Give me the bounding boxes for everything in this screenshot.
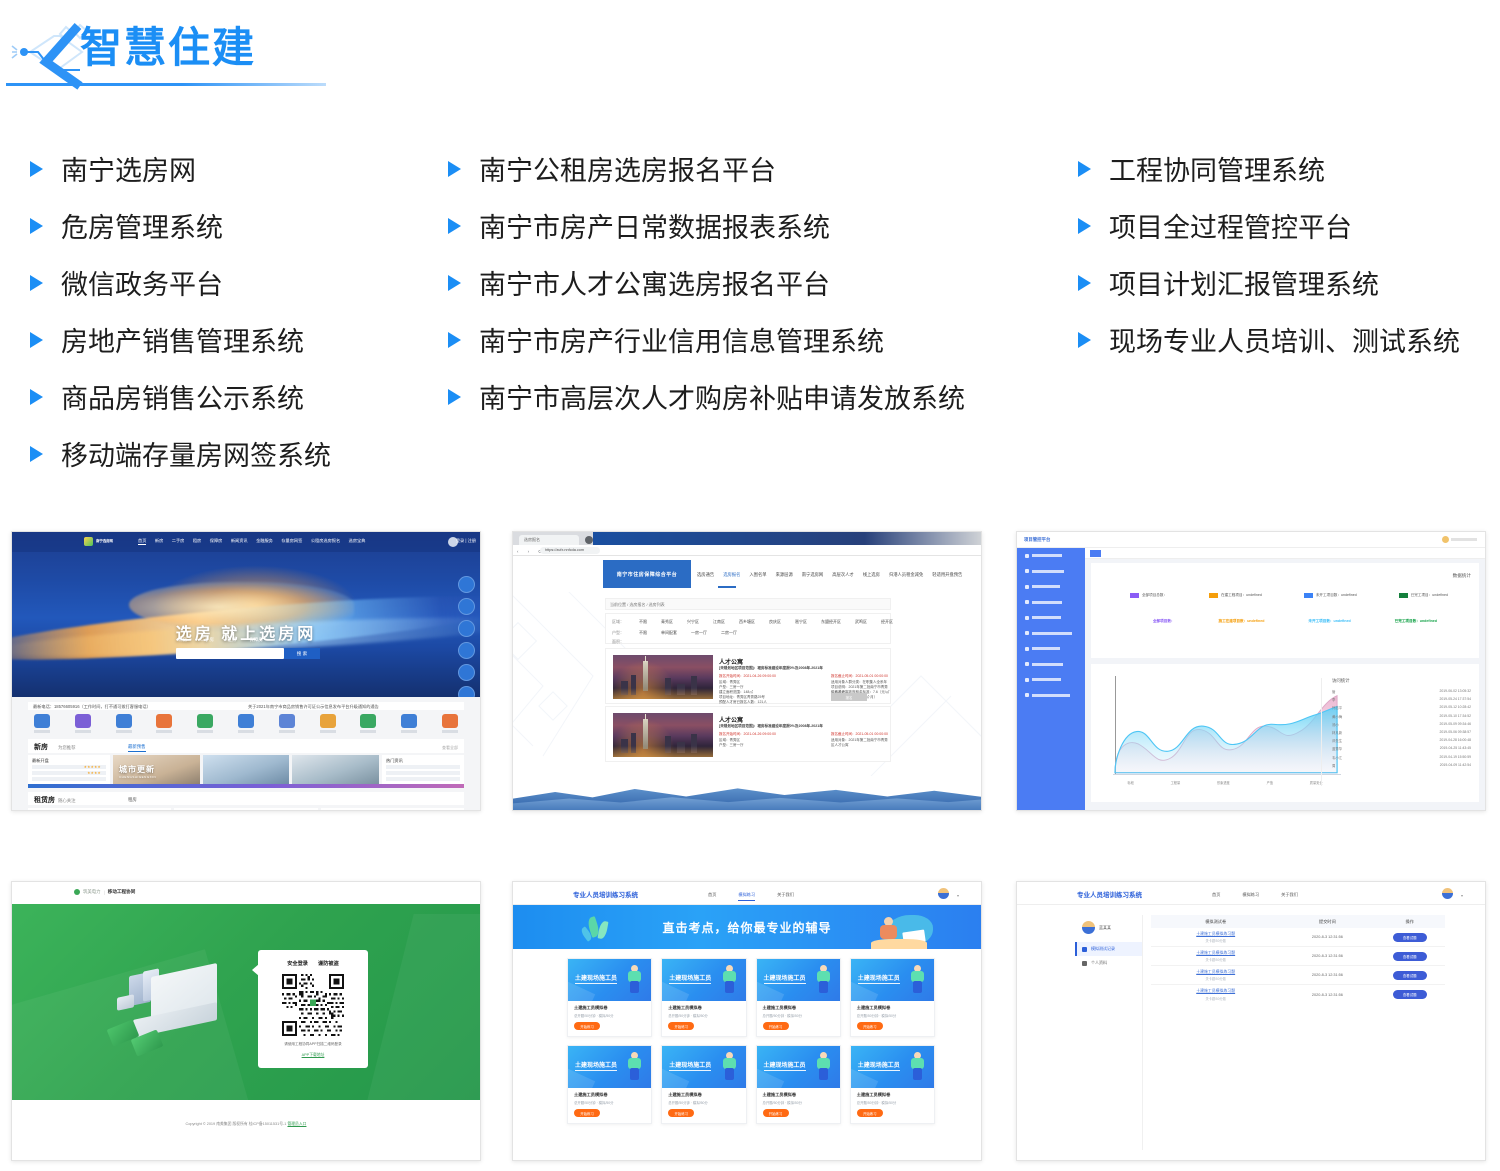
nav-item[interactable]: 首页 bbox=[1212, 892, 1220, 898]
cell-paper[interactable]: 土建施工员模拟练习题 关卡题/50分题 bbox=[1151, 969, 1280, 982]
system-label: 南宁市高层次人才购房补贴申请发放系统 bbox=[479, 377, 965, 416]
practice-card[interactable]: 土建现场施工员 土建施工员模拟卷 总开题/50分钟 · 模拟/50分 开始练习 bbox=[756, 958, 841, 1037]
log-time: 2019-04-19 15:50:59 bbox=[1440, 755, 1471, 760]
log-time: 2019-04-28 16:00:48 bbox=[1440, 738, 1471, 743]
side-tool-icon[interactable] bbox=[458, 642, 475, 659]
x-tick-label: 产值 bbox=[1267, 780, 1273, 785]
quick-entry-icon bbox=[197, 714, 213, 728]
log-row: 林凡新2019-05-06 09:38:57 bbox=[1332, 730, 1471, 735]
shape-decor-icon bbox=[757, 1069, 784, 1088]
system-label: 南宁市人才公寓选房报名平台 bbox=[479, 263, 830, 302]
system-link[interactable]: 南宁选房网 bbox=[30, 140, 331, 197]
cell-time: 2020-8-3 12:31:56 bbox=[1280, 954, 1374, 958]
menu-icon bbox=[1025, 569, 1029, 573]
paper-sub: 关卡题/50分题 bbox=[1151, 996, 1280, 1001]
user-sidebar: 蓝某某 模拟测试记录 个人资料 bbox=[1075, 915, 1143, 1150]
screenshot-project-dashboard[interactable]: 项目管控平台 数据统计 全部项目总数： 在建工程项目：undefined bbox=[1016, 531, 1486, 811]
quick-entry-icon bbox=[360, 714, 376, 728]
system-link[interactable]: 房地产销售管理系统 bbox=[30, 311, 331, 368]
menu-icon bbox=[1025, 585, 1029, 589]
admin-entry-link[interactable]: 管理员入口 bbox=[287, 1122, 306, 1126]
hot-news-list: 热门资讯 bbox=[382, 755, 464, 785]
nav-item[interactable]: 存量房网签 bbox=[281, 538, 302, 545]
user-name: 蓝某某 bbox=[1099, 925, 1111, 931]
search-tab[interactable]: 租房 bbox=[227, 637, 236, 643]
quick-entry[interactable] bbox=[360, 714, 376, 733]
log-time: 2019-05-06 09:38:57 bbox=[1440, 730, 1471, 735]
nav-item[interactable]: 新房 bbox=[155, 538, 163, 545]
sand-decor-icon bbox=[871, 939, 927, 949]
panel-title: 数据统计 bbox=[1453, 573, 1471, 579]
dashboard-sidebar[interactable] bbox=[1017, 548, 1085, 810]
site-nav[interactable]: 首页 模拟练习 关于我们 bbox=[1212, 892, 1298, 898]
section-more-link[interactable]: 查看全部 bbox=[442, 745, 458, 751]
promo-image-buildings[interactable] bbox=[203, 755, 290, 785]
paper-link[interactable]: 土建施工员模拟练习题 bbox=[1151, 969, 1280, 975]
avatar[interactable] bbox=[938, 888, 949, 899]
cell-paper[interactable]: 土建施工员模拟练习题 关卡题/50分题 bbox=[1151, 931, 1280, 944]
card-body: 土建施工员模拟卷 总开题/50分钟 · 模拟/50分 开始练习 bbox=[662, 1001, 745, 1036]
nav-active-indicator bbox=[718, 586, 736, 588]
x-tick-label: 形象进度 bbox=[1217, 780, 1230, 785]
nav-item[interactable]: 金融服务 bbox=[256, 538, 273, 545]
card-cover-label: 土建现场施工员 bbox=[669, 973, 711, 984]
dashboard-main: 数据统计 全部项目总数： 在建工程项目：undefined 未开工项目数：und… bbox=[1085, 548, 1485, 810]
chevron-down-icon[interactable]: ▾ bbox=[957, 893, 959, 898]
section-subtitle: 随心关注 bbox=[58, 798, 76, 804]
system-link[interactable]: 南宁公租房选房报名平台 bbox=[448, 140, 965, 197]
quick-entry[interactable] bbox=[156, 714, 172, 733]
section-title: 租赁房 bbox=[34, 795, 55, 805]
card-cover-label: 土建现场施工员 bbox=[858, 973, 900, 984]
quick-entry[interactable] bbox=[116, 714, 132, 733]
triangle-bullet-icon bbox=[1078, 161, 1091, 177]
listing-field: 户型：三房一厅 bbox=[719, 743, 744, 748]
stat-value: 已完工项目数：undefined bbox=[1395, 619, 1437, 624]
quick-entry[interactable] bbox=[442, 714, 458, 733]
rating-stars-icon: ★★★★ bbox=[87, 771, 101, 775]
card-title: 土建施工员模拟卷 bbox=[857, 1092, 928, 1098]
person-icon bbox=[722, 1052, 738, 1082]
rent-section-header: 租赁房 随心关注 租房 bbox=[28, 792, 464, 805]
tab-bar[interactable] bbox=[1085, 548, 1485, 559]
card-meta: 总开题/50分钟 · 模拟/50分 bbox=[668, 1013, 739, 1018]
search-tab[interactable]: 保障房 bbox=[249, 637, 263, 643]
nav-item[interactable]: 轻适用开盘预告 bbox=[932, 572, 962, 578]
search-tab[interactable]: 二手房 bbox=[200, 637, 214, 643]
column-header: 模拟测试卷 bbox=[1151, 919, 1280, 925]
card-meta: 总开题/50分钟 · 模拟/50分 bbox=[668, 1100, 739, 1105]
login-title: 安全登录谨防被盗 bbox=[258, 960, 368, 967]
table-row[interactable]: 土建施工员模拟练习题 关卡题/50分题 2020-8-3 12:31:56 查看… bbox=[1151, 966, 1445, 985]
promo-image-city-renewal[interactable]: 城市更新CHENGSHIGENGXIN bbox=[113, 755, 200, 785]
browser-tab-title: 选房报名 bbox=[524, 537, 540, 543]
card-cover-label: 土建现场施工员 bbox=[669, 1060, 711, 1071]
nav-item[interactable]: 公租房选房报名 bbox=[311, 538, 340, 545]
login-title-part2: 谨防被盗 bbox=[318, 961, 339, 967]
login-title-part1: 安全登录 bbox=[287, 961, 308, 967]
login-hero: 安全登录谨防被盗 bbox=[12, 904, 480, 1102]
system-link[interactable]: 危房管理系统 bbox=[30, 197, 331, 254]
nav-item[interactable]: 来源层源 bbox=[776, 572, 793, 578]
filter-option[interactable]: 不限 bbox=[639, 630, 647, 636]
legend: 全部项目总数： 在建工程项目：undefined 未开工项目数：undefine… bbox=[1109, 593, 1469, 598]
quick-entry[interactable] bbox=[279, 714, 295, 733]
menu-icon bbox=[1025, 631, 1029, 635]
quick-entry-icon bbox=[279, 714, 295, 728]
log-time: 2019-05-24 17:37:54 bbox=[1440, 697, 1471, 702]
system-label: 南宁公租房选房报名平台 bbox=[479, 149, 776, 188]
paper-sub: 关卡题/50分题 bbox=[1151, 938, 1280, 943]
listing-title: 人才公寓 bbox=[719, 715, 743, 724]
site-nav-items[interactable]: 首页 新房 二手房 租房 保障房 新闻资讯 金融服务 存量房网签 公租房选房报名… bbox=[138, 538, 365, 545]
new-tab-icon[interactable] bbox=[585, 536, 593, 544]
log-user: 李 bbox=[1332, 697, 1335, 702]
card-title: 土建施工员模拟卷 bbox=[668, 1092, 739, 1098]
nav-item[interactable]: 保障房 bbox=[210, 538, 223, 545]
sidebar-item[interactable] bbox=[1017, 595, 1085, 611]
sidebar-item[interactable] bbox=[1017, 610, 1085, 626]
listing-subtitle: [未规划地区项目范围]：裙房标准建设年度报0%及2008年-2021年 bbox=[719, 724, 823, 729]
cell-paper[interactable]: 土建施工员模拟练习题 关卡题/50分题 bbox=[1151, 950, 1280, 963]
copyright-text: Copyright © 2019 南美集团 版权所有 桂ICP备15011531… bbox=[12, 1122, 480, 1127]
qr-code[interactable] bbox=[282, 974, 344, 1036]
filter-option[interactable]: 西乡塘区 bbox=[739, 619, 755, 625]
filter-option[interactable]: 青秀区 bbox=[661, 619, 673, 625]
card-meta: 总开题/50分钟 · 模拟/50分 bbox=[857, 1100, 928, 1105]
start-practice-button[interactable]: 开始练习 bbox=[574, 1109, 600, 1117]
nav-item[interactable]: 模拟练习 bbox=[1242, 892, 1259, 898]
system-link[interactable]: 南宁市房产行业信用信息管理系统 bbox=[448, 311, 965, 368]
start-practice-button[interactable]: 开始练习 bbox=[574, 1022, 600, 1030]
filter-option[interactable]: 单间配套 bbox=[661, 630, 677, 636]
copyright: Copyright © 2019 南美集团 版权所有 桂ICP备15011531… bbox=[186, 1122, 287, 1126]
card-title: 土建施工员模拟卷 bbox=[763, 1005, 834, 1011]
system-label: 南宁市房产行业信用信息管理系统 bbox=[479, 320, 884, 359]
screenshot-xuanfangwang[interactable]: 南宁选房网 首页 新房 二手房 租房 保障房 新闻资讯 金融服务 存量房网签 公… bbox=[11, 531, 481, 811]
card-title: 土建施工员模拟卷 bbox=[763, 1092, 834, 1098]
quick-entry[interactable] bbox=[75, 714, 91, 733]
search-tab[interactable]: 新房 bbox=[178, 637, 187, 643]
app-download-link[interactable]: APP下载地址 bbox=[258, 1053, 368, 1058]
nav-item[interactable]: 线上选房 bbox=[863, 572, 880, 578]
start-practice-button[interactable]: 开始练习 bbox=[857, 1109, 883, 1117]
dashboard-topbar: 项目管控平台 bbox=[1017, 532, 1485, 548]
sidebar-item[interactable] bbox=[1017, 641, 1085, 657]
legend-swatch-icon bbox=[1399, 593, 1408, 598]
search-tabs[interactable]: 新房 二手房 租房 保障房 bbox=[178, 637, 263, 643]
promo-banner: 直击考点，给你最专业的辅导 bbox=[513, 905, 981, 949]
table-row[interactable]: 土建施工员模拟练习题 关卡题/50分题 2020-8-3 12:31:56 查看… bbox=[1151, 947, 1445, 966]
nav-item[interactable]: 租房 bbox=[193, 538, 201, 545]
practice-card[interactable]: 土建现场施工员 土建施工员模拟卷 总开题/50分钟 · 模拟/50分 开始练习 bbox=[567, 1045, 652, 1124]
card-cover-label: 土建现场施工员 bbox=[764, 973, 806, 984]
column-header: 提交时间 bbox=[1280, 919, 1374, 925]
sidebar-item-test-records[interactable]: 模拟测试记录 bbox=[1075, 942, 1142, 956]
stat-value: 未开工项目数：undefined bbox=[1308, 619, 1350, 624]
practice-card[interactable]: 土建现场施工员 土建施工员模拟卷 总开题/50分钟 · 模拟/50分 开始练习 bbox=[567, 958, 652, 1037]
sidebar-item-label: 个人资料 bbox=[1091, 960, 1107, 966]
nav-item[interactable]: 南宁选房网 bbox=[802, 572, 823, 578]
screenshot-training-practice[interactable]: 专业人员培训练习系统 首页 模拟练习 关于我们 ▾ 直击考点，给你最专业的辅导 bbox=[512, 881, 982, 1161]
search-input[interactable] bbox=[176, 648, 284, 659]
listing-field: 报名开始时间：2021-04-26 09:00:00 bbox=[719, 732, 776, 737]
menu-icon bbox=[1025, 662, 1029, 666]
view-paper-button[interactable]: 查看试题 bbox=[1393, 971, 1427, 980]
chevron-down-icon[interactable]: ▾ bbox=[1461, 893, 1463, 898]
system-link[interactable]: 工程协同管理系统 bbox=[1078, 140, 1460, 197]
log-user: 外志平 bbox=[1332, 705, 1342, 710]
site-logo-text: 专业人员培训练习系统 bbox=[1077, 889, 1142, 899]
list-item[interactable]: ★★★★ bbox=[32, 771, 106, 775]
system-link[interactable]: 现场专业人员培训、测试系统 bbox=[1078, 311, 1460, 368]
nav-item[interactable]: 高层次人才 bbox=[832, 572, 853, 578]
practice-card[interactable]: 土建现场施工员 土建施工员模拟卷 总开题/50分钟 · 模拟/50分 开始练习 bbox=[661, 1045, 746, 1124]
sidebar-item[interactable] bbox=[1017, 688, 1085, 704]
avatar bbox=[1082, 921, 1095, 934]
filter-row-region[interactable]: 区域： 不限 青秀区 兴宁区 江南区 西乡塘区 良庆区 邕宁区 东盟经开区 武鸣… bbox=[612, 619, 893, 625]
log-row: 蓝秀华2019-04-25 11:43:45 bbox=[1332, 746, 1471, 751]
start-practice-button[interactable]: 开始练习 bbox=[668, 1022, 694, 1030]
stats-panel: 数据统计 全部项目总数： 在建工程项目：undefined 未开工项目数：und… bbox=[1091, 563, 1479, 658]
leaf-decor-icon bbox=[583, 915, 625, 945]
nav-item[interactable]: 入围名单 bbox=[749, 572, 766, 578]
latest-opening-list: 最新开盘 ★★★★★ ★★★★ bbox=[28, 755, 110, 785]
login-header: 筑美电力 | 移动工程协同 bbox=[12, 882, 480, 904]
paper-link[interactable]: 土建施工员模拟练习题 bbox=[1151, 988, 1280, 994]
system-link[interactable]: 项目计划汇报管理系统 bbox=[1078, 254, 1460, 311]
nav-item[interactable]: 关于我们 bbox=[777, 892, 794, 901]
nav-item[interactable]: 二手房 bbox=[172, 538, 185, 545]
nav-item[interactable]: 选房宝典 bbox=[349, 538, 366, 545]
start-practice-button[interactable]: 开始练习 bbox=[763, 1109, 789, 1117]
cell-paper[interactable]: 土建施工员模拟练习题 关卡题/50分题 bbox=[1151, 988, 1280, 1001]
card-cover: 土建现场施工员 bbox=[757, 959, 840, 1001]
log-user: 汤小 bbox=[1332, 722, 1339, 727]
quick-entry-icons[interactable] bbox=[34, 714, 458, 733]
avatar[interactable] bbox=[1442, 536, 1449, 543]
paper-sub: 关卡题/50分题 bbox=[1151, 957, 1280, 962]
log-title: 访问统计 bbox=[1332, 678, 1471, 684]
person-icon bbox=[627, 965, 643, 995]
nav-item-active[interactable]: 模拟练习 bbox=[738, 892, 755, 901]
practice-card[interactable]: 土建现场施工员 土建施工员模拟卷 总开题/50分钟 · 模拟/50分 开始练习 bbox=[850, 1045, 935, 1124]
side-tool-icon[interactable] bbox=[458, 620, 475, 637]
nav-item[interactable]: 首页 bbox=[138, 538, 146, 545]
system-link[interactable]: 项目全过程管控平台 bbox=[1078, 197, 1460, 254]
table-row[interactable]: 土建施工员模拟练习题 关卡题/50分题 2020-8-3 12:31:56 查看… bbox=[1151, 928, 1445, 947]
list-icon bbox=[1082, 947, 1087, 952]
nav-item[interactable]: 选房通告 bbox=[697, 572, 714, 578]
filter-option[interactable]: 江南区 bbox=[713, 619, 725, 625]
records-body: 蓝某某 模拟测试记录 个人资料 模拟测试卷 提交时间 操作 bbox=[1017, 905, 1485, 1160]
system-label: 危房管理系统 bbox=[61, 206, 223, 245]
filter-option[interactable]: 良庆区 bbox=[769, 619, 781, 625]
sidebar-item[interactable] bbox=[1017, 548, 1085, 564]
site-nav[interactable]: 首页 模拟练习 关于我们 bbox=[708, 892, 794, 901]
apply-button[interactable]: 报名 bbox=[831, 693, 867, 701]
filter-row-layout[interactable]: 户型： 不限 单间配套 一房一厅 二房一厅 bbox=[612, 630, 737, 636]
listing-item[interactable]: 人才公寓 [未规划地区项目范围]：裙房标准建设年度报0%及2008年-2021年… bbox=[605, 706, 891, 762]
side-tool-icon[interactable] bbox=[458, 664, 475, 681]
user-area[interactable] bbox=[1442, 536, 1477, 543]
title-underline bbox=[6, 83, 326, 86]
cell-action: 查看试题 bbox=[1374, 990, 1445, 999]
quick-entry[interactable] bbox=[34, 714, 50, 733]
card-meta: 总开题/50分钟 · 模拟/50分 bbox=[574, 1100, 645, 1105]
filter-panel: 区域： 不限 青秀区 兴宁区 江南区 西乡塘区 良庆区 邕宁区 东盟经开区 武鸣… bbox=[605, 613, 891, 644]
table-row[interactable]: 土建施工员模拟练习题 关卡题/50分题 2020-8-3 12:31:56 查看… bbox=[1151, 985, 1445, 1004]
start-practice-button[interactable]: 开始练习 bbox=[763, 1022, 789, 1030]
newhouse-content-grid: 最新开盘 ★★★★★ ★★★★ 城市更新CHENGSHIGENGXIN 热门资讯 bbox=[28, 755, 464, 785]
list-item[interactable] bbox=[386, 765, 460, 769]
page-header: 智慧住建 bbox=[0, 0, 1500, 108]
promo-title: 城市更新CHENGSHIGENGXIN bbox=[119, 764, 156, 779]
login-register-link[interactable]: 登录 | 注册 bbox=[456, 538, 476, 544]
log-time: 2019-06-02 13:05:32 bbox=[1440, 689, 1471, 694]
filter-row-area[interactable]: 面积： bbox=[612, 639, 625, 645]
screenshot-training-records[interactable]: 专业人员培训练习系统 首页 模拟练习 关于我们 ▾ 蓝某某 模拟测试记录 bbox=[1016, 881, 1486, 1161]
quick-entry[interactable] bbox=[320, 714, 336, 733]
log-row: 汤小2019-05-09 09:34:46 bbox=[1332, 722, 1471, 727]
section-title: 新房 bbox=[34, 742, 48, 752]
view-paper-button[interactable]: 查看试题 bbox=[1393, 933, 1427, 942]
sidebar-item[interactable] bbox=[1017, 579, 1085, 595]
listing-item[interactable]: 人才公寓 [未规划地区项目范围]：裙房标准建设年度报0%及2008年-2021年… bbox=[605, 648, 891, 704]
qr-code-icon bbox=[282, 974, 344, 1036]
company-name: 筑美电力 bbox=[83, 889, 101, 895]
system-label: 南宁市房产日常数据报表系统 bbox=[479, 206, 830, 245]
card-meta: 总开题/50分钟 · 模拟/50分 bbox=[763, 1013, 834, 1018]
card-cover: 土建现场施工员 bbox=[757, 1046, 840, 1088]
list-item[interactable] bbox=[386, 777, 460, 781]
filter-option[interactable]: 兴宁区 bbox=[687, 619, 699, 625]
filter-option[interactable]: 东盟经开区 bbox=[821, 619, 841, 625]
quick-entry[interactable] bbox=[197, 714, 213, 733]
list-item[interactable] bbox=[386, 771, 460, 775]
filter-option[interactable]: 一房一厅 bbox=[691, 630, 707, 636]
log-time: 2019-05-10 17:34:52 bbox=[1440, 714, 1471, 719]
sidebar-item[interactable] bbox=[1017, 564, 1085, 580]
promo-image-aerial[interactable] bbox=[292, 755, 379, 785]
person-body-icon bbox=[880, 925, 897, 939]
card-body: 土建施工员模拟卷 总开题/50分钟 · 模拟/50分 开始练习 bbox=[757, 1088, 840, 1123]
rent-card[interactable] bbox=[321, 808, 464, 811]
filter-option[interactable]: 武鸣区 bbox=[855, 619, 867, 625]
filter-option[interactable]: 邕宁区 bbox=[795, 619, 807, 625]
triangle-bullet-icon bbox=[1078, 218, 1091, 234]
system-link[interactable]: 南宁市房产日常数据报表系统 bbox=[448, 197, 965, 254]
tab-chip[interactable] bbox=[1090, 550, 1101, 557]
quick-entry[interactable] bbox=[401, 714, 417, 733]
system-link[interactable]: 移动端存量房网签系统 bbox=[30, 425, 331, 482]
start-practice-button[interactable]: 开始练习 bbox=[668, 1109, 694, 1117]
nav-item-active[interactable]: 选房报名 bbox=[723, 572, 740, 578]
practice-card[interactable]: 土建现场施工员 土建施工员模拟卷 总开题/50分钟 · 模拟/50分 开始练习 bbox=[661, 958, 746, 1037]
paper-link[interactable]: 土建施工员模拟练习题 bbox=[1151, 931, 1280, 937]
rent-card[interactable] bbox=[174, 808, 317, 811]
nav-item[interactable]: 首页 bbox=[708, 892, 716, 901]
user-profile: 蓝某某 bbox=[1075, 915, 1142, 942]
triangle-bullet-icon bbox=[30, 446, 43, 462]
listing-photo bbox=[613, 655, 713, 699]
quick-entry[interactable] bbox=[238, 714, 254, 733]
practice-card[interactable]: 土建现场施工员 土建施工员模拟卷 总开题/50分钟 · 模拟/50分 开始练习 bbox=[850, 958, 935, 1037]
city-lights-glow bbox=[613, 688, 713, 699]
card-cover-label: 土建现场施工员 bbox=[575, 973, 617, 984]
side-tool-icon[interactable] bbox=[458, 598, 475, 615]
browser-titlebar bbox=[593, 532, 981, 545]
sidebar-item[interactable] bbox=[1017, 672, 1085, 688]
search-button[interactable]: 搜 索 bbox=[284, 648, 320, 659]
quick-entry-icon bbox=[116, 714, 132, 728]
site-brand: 南宁市住房保障综合平台 bbox=[603, 560, 691, 588]
shape-decor-icon bbox=[662, 982, 689, 1001]
dashboard-logo: 项目管控平台 bbox=[1024, 537, 1050, 543]
listing-field: 报名截止时间：2021-05-01 00:00:00 bbox=[831, 674, 888, 679]
section-tab[interactable]: 租房 bbox=[128, 797, 137, 803]
gradient-divider bbox=[28, 784, 464, 788]
site-nav[interactable]: 选房通告 选房报名 入围名单 来源层源 南宁选房网 高层次人才 线上选房 归港人… bbox=[697, 572, 962, 578]
system-link[interactable]: 南宁市高层次人才购房补贴申请发放系统 bbox=[448, 368, 965, 425]
card-body: 土建施工员模拟卷 总开题/50分钟 · 模拟/50分 开始练习 bbox=[568, 1001, 651, 1036]
laptop-illustration-icon bbox=[117, 966, 232, 1046]
rent-card[interactable] bbox=[28, 808, 171, 811]
folder-icon bbox=[117, 994, 134, 1011]
nav-item[interactable]: 关于我们 bbox=[1281, 892, 1298, 898]
x-axis-labels: 标段 工程量 形象进度 产值 质量安全 bbox=[1109, 780, 1341, 785]
sidebar-item-profile[interactable]: 个人资料 bbox=[1075, 956, 1142, 970]
system-link[interactable]: 商品房销售公示系统 bbox=[30, 368, 331, 425]
start-practice-button[interactable]: 开始练习 bbox=[857, 1022, 883, 1030]
nav-item[interactable]: 新闻资讯 bbox=[231, 538, 248, 545]
side-tool-icon[interactable] bbox=[458, 576, 475, 593]
triangle-bullet-icon bbox=[30, 332, 43, 348]
filter-label: 面积： bbox=[612, 639, 625, 645]
section-subtitle: 为您推荐 bbox=[58, 745, 76, 751]
person-icon bbox=[910, 965, 926, 995]
system-link[interactable]: 微信政务平台 bbox=[30, 254, 331, 311]
screenshot-gongzufang-platform[interactable]: 选房报名 ‹ › ⟳ https://zufx.nnfcda.com bbox=[512, 531, 982, 811]
site-logo-text: 南宁选房网 bbox=[96, 538, 113, 543]
sidebar-item[interactable] bbox=[1017, 657, 1085, 673]
table-header: 模拟测试卷 提交时间 操作 bbox=[1151, 915, 1445, 928]
sidebar-item[interactable] bbox=[1017, 626, 1085, 642]
list-item[interactable]: ★★★★★ bbox=[32, 765, 106, 769]
section-tab[interactable]: 最新预售 bbox=[128, 744, 146, 752]
paper-link[interactable]: 土建施工员模拟练习题 bbox=[1151, 950, 1280, 956]
card-title: 土建施工员模拟卷 bbox=[574, 1092, 645, 1098]
system-label: 现场专业人员培训、测试系统 bbox=[1109, 320, 1460, 359]
filter-option[interactable]: 经开区 bbox=[881, 619, 893, 625]
nav-item[interactable]: 归港人员租金减免 bbox=[889, 572, 923, 578]
filter-option[interactable]: 二房一厅 bbox=[721, 630, 737, 636]
view-paper-button[interactable]: 查看试题 bbox=[1393, 990, 1427, 999]
triangle-bullet-icon bbox=[30, 389, 43, 405]
view-paper-button[interactable]: 查看试题 bbox=[1393, 952, 1427, 961]
menu-icon bbox=[1025, 616, 1029, 620]
system-link[interactable]: 南宁市人才公寓选房报名平台 bbox=[448, 254, 965, 311]
screenshot-mobile-engineering-login[interactable]: 筑美电力 | 移动工程协同 安全登录谨防被盗 bbox=[11, 881, 481, 1161]
listing-field: 适用对象：2021年第二批南宁市青秀区人才公寓 bbox=[831, 738, 890, 748]
site-logo-text: 专业人员培训练习系统 bbox=[573, 889, 638, 899]
list-item[interactable] bbox=[32, 777, 106, 781]
practice-card[interactable]: 土建现场施工员 土建施工员模拟卷 总开题/50分钟 · 模拟/50分 开始练习 bbox=[756, 1045, 841, 1124]
avatar[interactable] bbox=[1442, 888, 1453, 899]
x-tick-label: 工程量 bbox=[1171, 780, 1181, 785]
log-row: 李2019-05-24 17:37:54 bbox=[1332, 697, 1471, 702]
filter-option[interactable]: 不限 bbox=[639, 619, 647, 625]
